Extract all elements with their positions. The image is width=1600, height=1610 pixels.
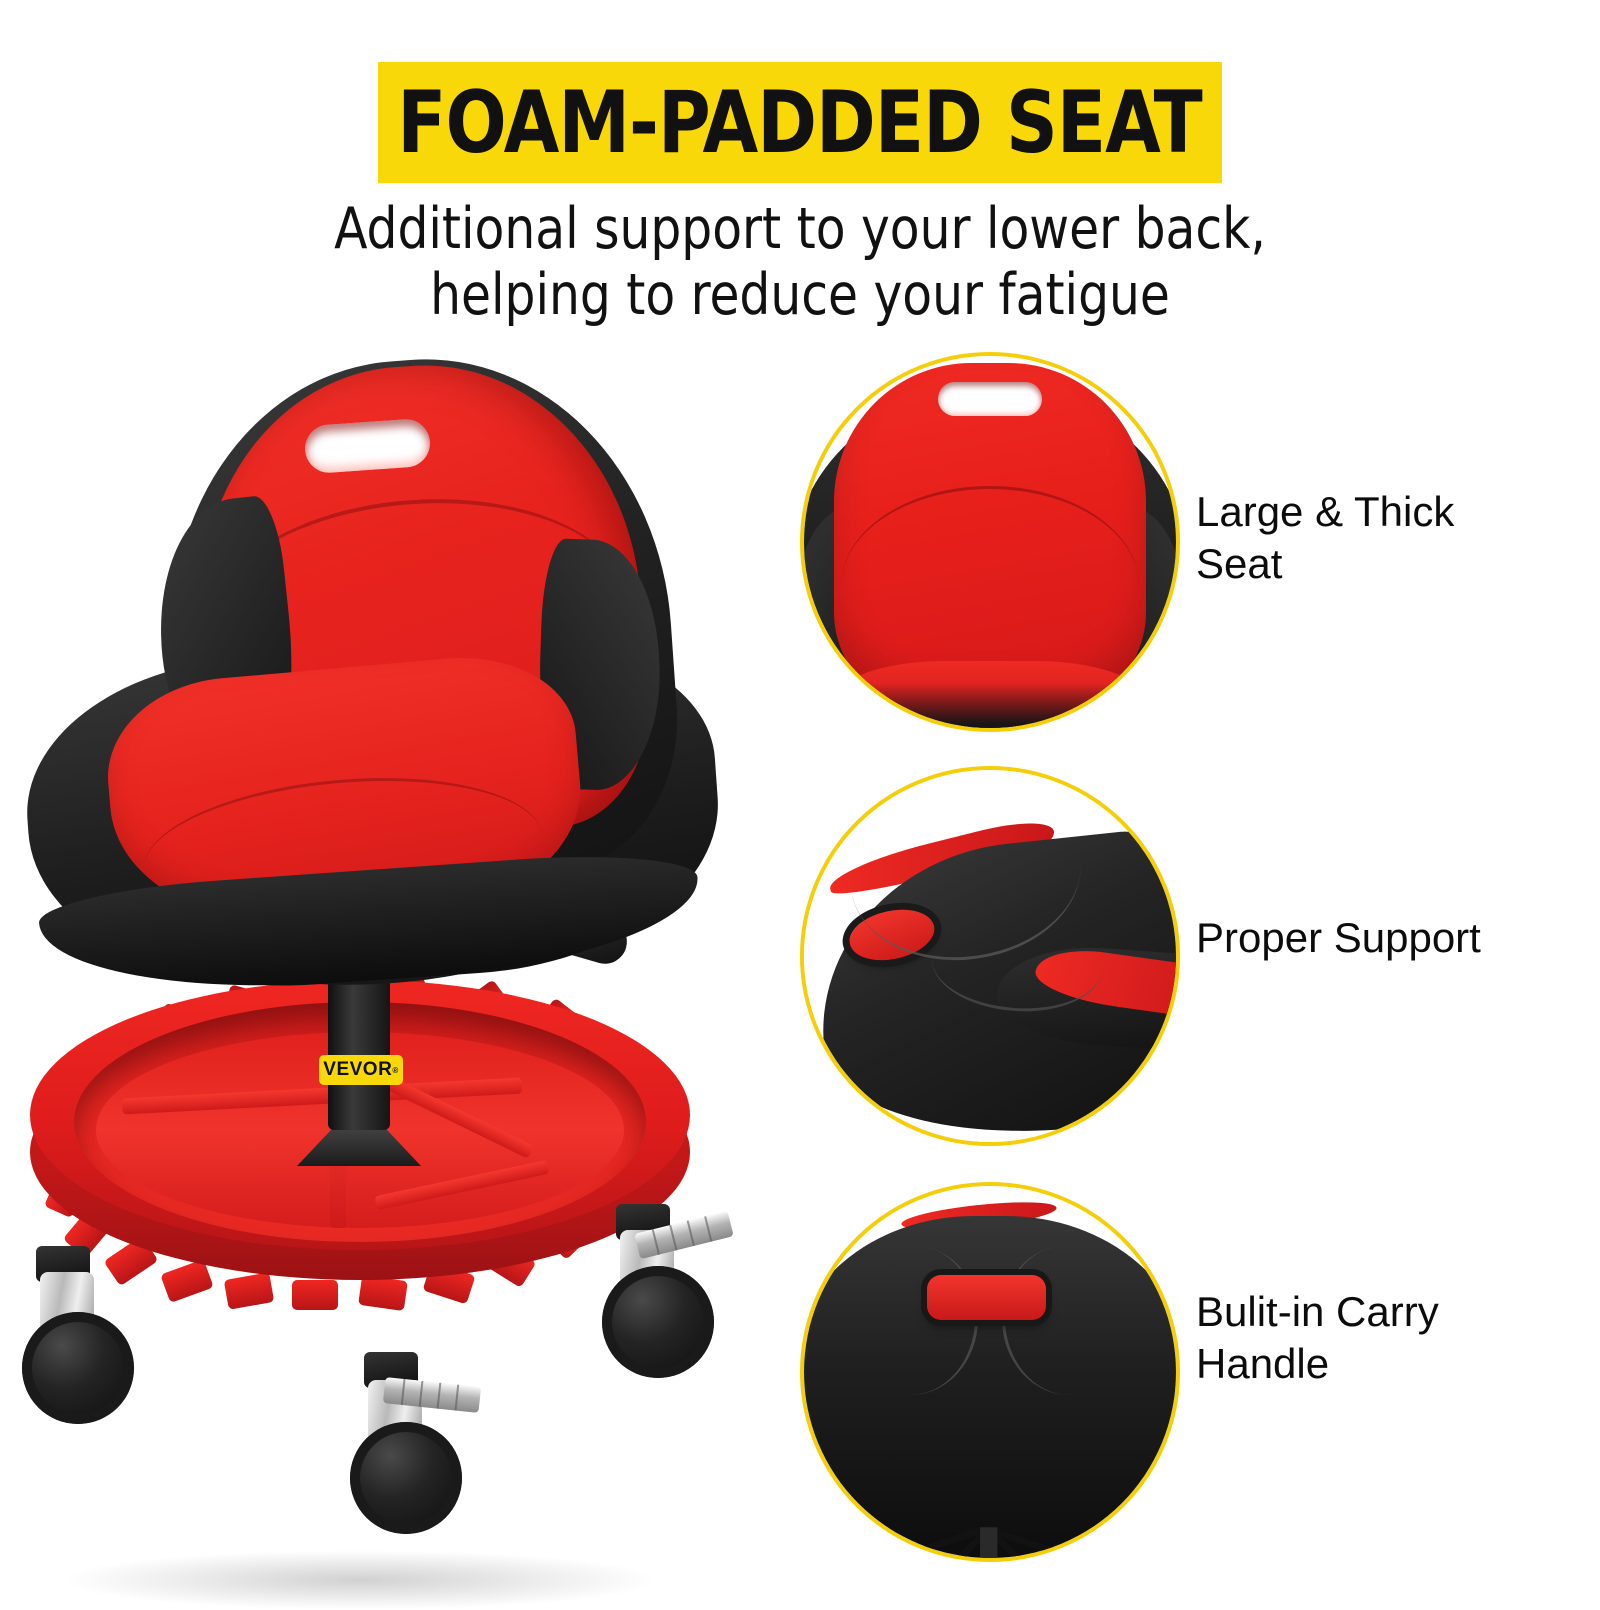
ground-shadow: [60, 1550, 660, 1610]
caster-wheel: [22, 1312, 134, 1424]
tray-tooth: [224, 1272, 275, 1310]
callout-label-line-1: Large & Thick: [1196, 486, 1566, 538]
callout-label-built-in-carry-handle: Bulit-in Carry Handle: [1196, 1286, 1566, 1390]
page-title: FOAM-PADDED SEAT: [398, 80, 1203, 166]
callout-label-line-1: Bulit-in Carry: [1196, 1286, 1566, 1338]
tray-tooth: [358, 1275, 408, 1311]
carry-handle-slot: [303, 418, 431, 475]
caster-wheel: [602, 1266, 714, 1378]
subtitle: Additional support to your lower back, h…: [40, 196, 1560, 328]
subtitle-line-2: helping to reduce your fatigue: [40, 262, 1560, 328]
callout-label-line-1: Proper Support: [1196, 912, 1566, 964]
vevor-logo: VEVOR®: [319, 1055, 403, 1085]
main-product-image: VEVOR®: [0, 350, 790, 1590]
trademark-symbol: ®: [392, 1066, 398, 1075]
callout-label-line-2: Seat: [1196, 538, 1566, 590]
caster-wheel: [350, 1422, 462, 1534]
carry-handle-slot-detail: [938, 382, 1042, 415]
callout-image-built-in-carry-handle: [800, 1182, 1180, 1562]
backrest-rear-shell-detail: [800, 1216, 1180, 1558]
carry-handle-cutout-detail: [927, 1275, 1046, 1320]
callout-image-large-thick-seat: [800, 352, 1180, 732]
product-feature-page: FOAM-PADDED SEAT Additional support to y…: [0, 0, 1600, 1600]
callout-label-line-2: Handle: [1196, 1338, 1566, 1390]
tray-tooth: [292, 1280, 338, 1310]
vevor-logo-text: VEVOR: [323, 1059, 392, 1081]
callout-label-proper-support: Proper Support: [1196, 912, 1566, 964]
tray-tooth: [160, 1259, 213, 1303]
title-banner: FOAM-PADDED SEAT: [378, 62, 1222, 183]
swivel-spider-detail: [893, 1513, 1086, 1562]
callout-image-proper-support: [800, 766, 1180, 1146]
callout-label-large-thick-seat: Large & Thick Seat: [1196, 486, 1566, 590]
subtitle-line-1: Additional support to your lower back,: [40, 196, 1560, 262]
